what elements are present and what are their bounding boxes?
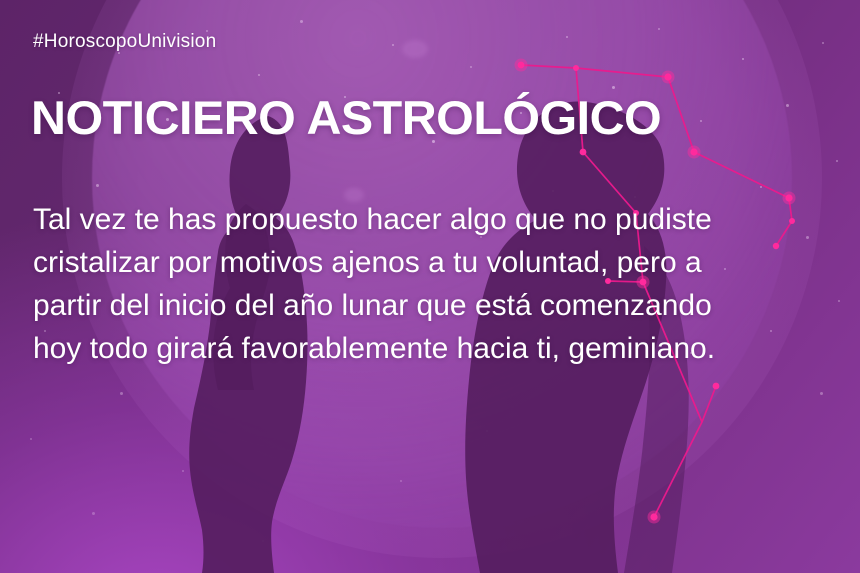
horoscope-card: #HoroscopoUnivision NOTICIERO ASTROLÓGIC… — [0, 0, 860, 573]
horoscope-body-text: Tal vez te has propuesto hacer algo que … — [33, 198, 823, 370]
page-title: NOTICIERO ASTROLÓGICO — [31, 91, 661, 144]
body-line: Tal vez te has propuesto hacer algo que … — [33, 198, 823, 241]
body-line: hoy todo girará favorablemente hacia ti,… — [33, 327, 823, 370]
body-line: partir del inicio del año lunar que está… — [33, 284, 823, 327]
body-line: cristalizar por motivos ajenos a tu volu… — [33, 241, 823, 284]
hashtag-label: #HoroscopoUnivision — [33, 31, 216, 53]
